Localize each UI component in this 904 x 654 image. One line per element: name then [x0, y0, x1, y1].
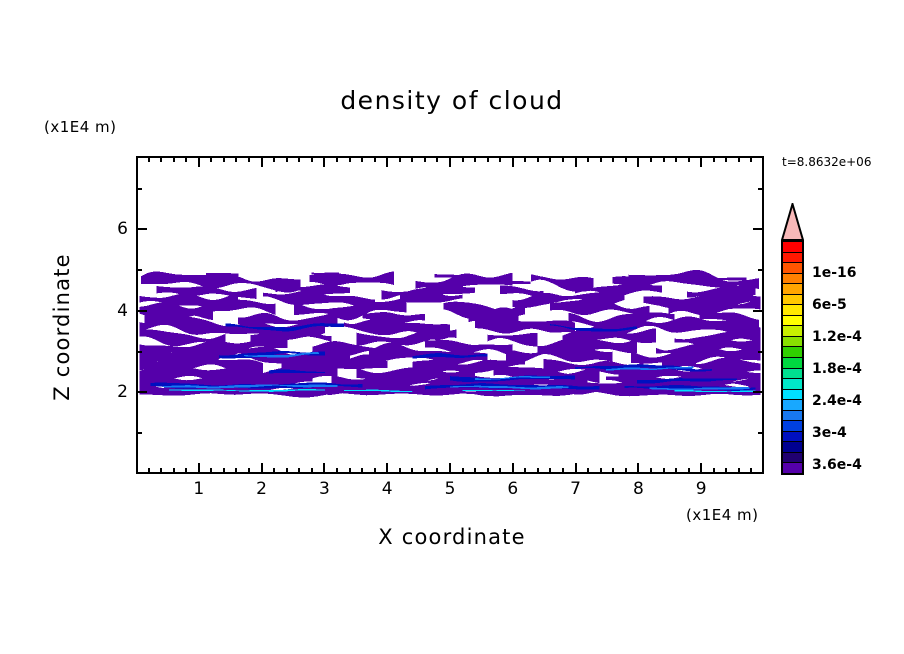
x-tick-minor — [148, 468, 150, 474]
colorbar-segment — [783, 316, 802, 327]
colorbar-segment — [783, 369, 802, 380]
x-tick-label: 9 — [696, 479, 707, 499]
x-tick-minor — [688, 156, 690, 162]
x-tick-minor — [650, 468, 652, 474]
x-tick-minor — [298, 156, 300, 162]
x-tick-minor — [374, 156, 376, 162]
colorbar — [781, 240, 804, 475]
x-tick-minor — [487, 156, 489, 162]
plot-area — [136, 156, 764, 474]
colorbar-segment — [783, 463, 802, 473]
x-tick-minor — [750, 156, 752, 162]
x-tick-minor — [562, 468, 564, 474]
x-tick-major — [575, 463, 577, 474]
x-tick-minor — [524, 468, 526, 474]
contour-patch — [501, 281, 531, 284]
x-tick-minor — [173, 468, 175, 474]
timestamp-annotation: t=8.8632e+06 — [782, 155, 871, 169]
colorbar-tick-label: 6e-5 — [812, 297, 847, 313]
x-tick-major — [700, 156, 702, 167]
x-axis-unit-label: (x1E4 m) — [686, 506, 759, 524]
colorbar-segment — [783, 242, 802, 253]
x-tick-minor — [725, 468, 727, 474]
x-tick-minor — [336, 468, 338, 474]
x-tick-minor — [499, 156, 501, 162]
x-tick-major — [386, 156, 388, 167]
colorbar-over-range-arrow — [781, 203, 804, 241]
y-tick-label: 2 — [106, 382, 128, 402]
x-tick-label: 1 — [193, 479, 204, 499]
x-tick-label: 4 — [382, 479, 393, 499]
colorbar-tick-label: 1.2e-4 — [812, 329, 862, 345]
x-tick-label: 7 — [570, 479, 581, 499]
colorbar-segment — [783, 274, 802, 285]
x-tick-minor — [361, 468, 363, 474]
x-tick-minor — [549, 156, 551, 162]
x-tick-minor — [286, 468, 288, 474]
x-tick-minor — [210, 468, 212, 474]
x-tick-major — [198, 156, 200, 167]
contour-patch — [206, 273, 238, 276]
y-tick-minor — [758, 269, 764, 271]
colorbar-segment — [783, 253, 802, 264]
colorbar-segment — [783, 442, 802, 453]
x-tick-minor — [738, 468, 740, 474]
x-tick-minor — [286, 156, 288, 162]
x-tick-minor — [663, 156, 665, 162]
x-tick-minor — [411, 468, 413, 474]
colorbar-tick-label: 3e-4 — [812, 425, 847, 441]
colorbar-tick-label: 1e-16 — [812, 265, 857, 281]
x-tick-major — [512, 463, 514, 474]
x-tick-minor — [587, 156, 589, 162]
y-tick-minor — [136, 269, 142, 271]
x-tick-minor — [688, 468, 690, 474]
x-tick-minor — [612, 468, 614, 474]
x-tick-minor — [235, 156, 237, 162]
x-tick-minor — [462, 156, 464, 162]
x-tick-major — [575, 156, 577, 167]
colorbar-segment — [783, 263, 802, 274]
x-tick-minor — [361, 156, 363, 162]
x-tick-major — [637, 463, 639, 474]
colorbar-segment — [783, 453, 802, 464]
x-tick-minor — [148, 156, 150, 162]
x-tick-minor — [248, 156, 250, 162]
x-tick-minor — [537, 156, 539, 162]
y-tick-minor — [136, 188, 142, 190]
x-tick-minor — [185, 156, 187, 162]
y-tick-minor — [136, 351, 142, 353]
colorbar-segment — [783, 284, 802, 295]
x-tick-minor — [524, 156, 526, 162]
y-axis-unit-label: (x1E4 m) — [44, 118, 117, 136]
x-tick-label: 6 — [507, 479, 518, 499]
x-tick-minor — [336, 156, 338, 162]
x-tick-minor — [487, 468, 489, 474]
x-tick-minor — [549, 468, 551, 474]
y-tick-label: 4 — [106, 301, 128, 321]
x-tick-minor — [248, 468, 250, 474]
contour-patch — [487, 333, 537, 346]
x-tick-minor — [399, 468, 401, 474]
x-tick-minor — [663, 468, 665, 474]
x-tick-major — [198, 463, 200, 474]
x-tick-minor — [625, 468, 627, 474]
x-tick-minor — [311, 156, 313, 162]
x-tick-major — [512, 156, 514, 167]
y-tick-major — [136, 310, 147, 312]
x-tick-minor — [436, 468, 438, 474]
x-tick-minor — [625, 156, 627, 162]
page-title: density of cloud — [0, 86, 904, 115]
x-tick-minor — [399, 156, 401, 162]
x-tick-major — [323, 463, 325, 474]
x-tick-label: 8 — [633, 479, 644, 499]
x-tick-minor — [600, 468, 602, 474]
x-tick-minor — [349, 156, 351, 162]
x-tick-minor — [675, 156, 677, 162]
x-tick-major — [386, 463, 388, 474]
x-tick-label: 5 — [445, 479, 456, 499]
x-tick-minor — [311, 468, 313, 474]
x-tick-minor — [223, 468, 225, 474]
y-tick-major — [753, 391, 764, 393]
x-tick-minor — [713, 156, 715, 162]
x-tick-minor — [424, 468, 426, 474]
x-tick-label: 2 — [256, 479, 267, 499]
x-tick-minor — [185, 468, 187, 474]
x-tick-minor — [160, 468, 162, 474]
y-tick-major — [136, 228, 147, 230]
x-axis-title: X coordinate — [0, 525, 904, 549]
x-tick-minor — [474, 156, 476, 162]
x-tick-major — [449, 463, 451, 474]
colorbar-segment — [783, 326, 802, 337]
colorbar-segment — [783, 358, 802, 369]
colorbar-segment — [783, 337, 802, 348]
y-axis-title: Z coordinate — [50, 227, 74, 427]
x-tick-minor — [160, 156, 162, 162]
colorbar-segment — [783, 411, 802, 422]
x-tick-minor — [713, 468, 715, 474]
x-tick-major — [261, 156, 263, 167]
x-tick-minor — [273, 468, 275, 474]
x-tick-minor — [499, 468, 501, 474]
colorbar-tick-label: 1.8e-4 — [812, 361, 862, 377]
y-tick-major — [753, 228, 764, 230]
x-tick-minor — [210, 156, 212, 162]
x-tick-minor — [587, 468, 589, 474]
y-tick-minor — [758, 351, 764, 353]
x-tick-minor — [235, 468, 237, 474]
x-tick-minor — [298, 468, 300, 474]
colorbar-segment — [783, 379, 802, 390]
x-tick-minor — [173, 156, 175, 162]
x-tick-minor — [436, 156, 438, 162]
x-tick-label: 3 — [319, 479, 330, 499]
y-tick-major — [753, 310, 764, 312]
colorbar-segment — [783, 295, 802, 306]
x-tick-minor — [650, 156, 652, 162]
x-tick-major — [637, 156, 639, 167]
x-tick-major — [323, 156, 325, 167]
contour-canvas — [138, 158, 762, 472]
x-tick-minor — [374, 468, 376, 474]
y-tick-label: 6 — [106, 219, 128, 239]
x-tick-minor — [474, 468, 476, 474]
x-tick-minor — [223, 156, 225, 162]
contour-patch — [311, 272, 338, 275]
colorbar-segment — [783, 432, 802, 443]
x-tick-minor — [273, 156, 275, 162]
x-tick-major — [449, 156, 451, 167]
colorbar-tick-label: 2.4e-4 — [812, 393, 862, 409]
colorbar-segment — [783, 400, 802, 411]
x-tick-minor — [562, 156, 564, 162]
x-tick-minor — [750, 468, 752, 474]
colorbar-segment — [783, 390, 802, 401]
x-tick-minor — [612, 156, 614, 162]
colorbar-segment — [783, 347, 802, 358]
x-tick-minor — [675, 468, 677, 474]
x-tick-major — [261, 463, 263, 474]
y-tick-major — [136, 391, 147, 393]
y-tick-minor — [136, 432, 142, 434]
contour-patch — [475, 314, 575, 333]
x-tick-minor — [349, 468, 351, 474]
colorbar-tick-label: 3.6e-4 — [812, 457, 862, 473]
x-tick-minor — [424, 156, 426, 162]
x-tick-minor — [537, 468, 539, 474]
colorbar-segment — [783, 305, 802, 316]
x-tick-minor — [725, 156, 727, 162]
y-tick-minor — [758, 432, 764, 434]
x-tick-minor — [411, 156, 413, 162]
colorbar-segment — [783, 421, 802, 432]
x-tick-major — [700, 463, 702, 474]
x-tick-minor — [600, 156, 602, 162]
x-tick-minor — [738, 156, 740, 162]
y-tick-minor — [758, 188, 764, 190]
x-tick-minor — [462, 468, 464, 474]
